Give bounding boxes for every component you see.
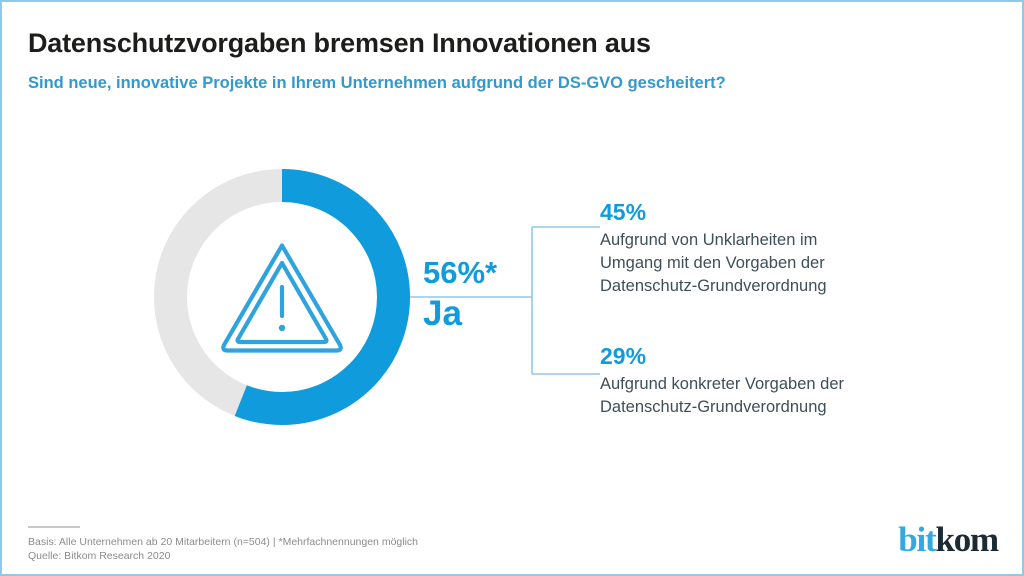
callout-percent: 29% bbox=[600, 342, 844, 370]
callout-percent: 45% bbox=[600, 198, 827, 226]
warning-triangle-icon bbox=[216, 235, 348, 359]
primary-answer: Ja bbox=[423, 292, 553, 336]
donut-chart bbox=[154, 169, 410, 425]
callout-description: Aufgrund konkreter Vorgaben der Datensch… bbox=[600, 373, 844, 419]
page-title: Datenschutzvorgaben bremsen Innovationen… bbox=[28, 28, 651, 59]
logo-text-second: kom bbox=[935, 520, 998, 559]
callout-item: 29% Aufgrund konkreter Vorgaben der Date… bbox=[600, 342, 844, 419]
primary-value-block: 56%* Ja bbox=[423, 254, 553, 336]
callout-description: Aufgrund von Unklarheiten im Umgang mit … bbox=[600, 229, 827, 298]
bitkom-logo: bitkom bbox=[898, 520, 998, 560]
infographic-page: Datenschutzvorgaben bremsen Innovationen… bbox=[0, 0, 1024, 576]
footer-source-note: Basis: Alle Unternehmen ab 20 Mitarbeite… bbox=[28, 535, 418, 563]
callout-item: 45% Aufgrund von Unklarheiten im Umgang … bbox=[600, 198, 827, 298]
primary-percent: 56%* bbox=[423, 254, 553, 292]
logo-text-first: bit bbox=[898, 520, 935, 559]
footer-divider bbox=[28, 526, 80, 528]
page-subtitle: Sind neue, innovative Projekte in Ihrem … bbox=[28, 74, 726, 93]
